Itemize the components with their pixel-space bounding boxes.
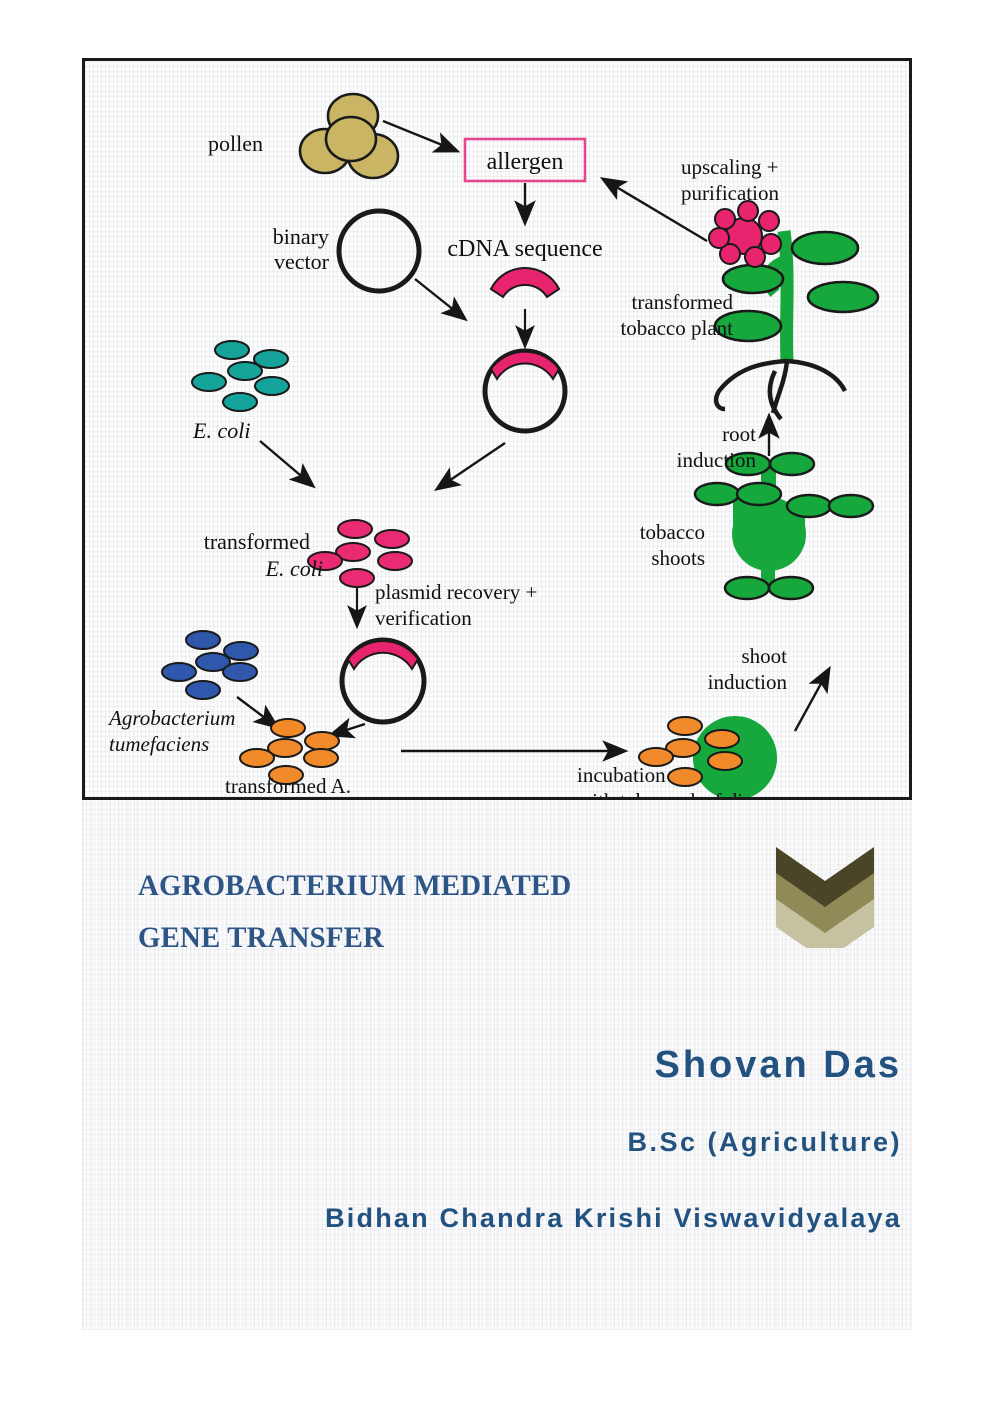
transformed-ecoli-label-line2: E. coli: [265, 556, 323, 581]
cdna-arc-icon: [491, 268, 559, 297]
gene-transfer-diagram-figure: pollen allergen cDNA sequence binary vec…: [82, 58, 912, 800]
root-induction-label-line1: root: [722, 422, 756, 446]
incubation-label-line1: incubation: [577, 763, 666, 787]
transformed-plant-label-line2: tobacco plant: [620, 316, 733, 340]
upscaling-label-line2: purification: [681, 181, 779, 205]
plasmid-recovery-label-line1: plasmid recovery +: [375, 580, 537, 604]
pollen-label: pollen: [208, 131, 263, 156]
transformed-tobacco-plant: [709, 201, 878, 419]
transformed-agro-label-line1: transformed A.: [225, 774, 351, 797]
ecoli-group: [192, 341, 289, 411]
agrobacterium-label-line1: Agrobacterium: [107, 706, 235, 730]
binary-vector-label-line1: binary: [273, 224, 329, 249]
allergen-label: allergen: [487, 149, 564, 175]
cdna-sequence-label: cDNA sequence: [447, 236, 602, 262]
arrow-ecoli-to-transformed-ecoli: [260, 441, 313, 486]
ecoli-label: E. coli: [192, 418, 250, 443]
transformed-ecoli-group: [308, 520, 412, 587]
arrow-agro-to-transformed-agro: [237, 697, 277, 727]
root-induction-label-line2: induction: [677, 448, 757, 472]
tobacco-shoots-group: [695, 453, 873, 599]
page-title-line-2: GENE TRANSFER: [138, 912, 714, 964]
page-title: AGROBACTERIUM MEDIATED GENE TRANSFER: [138, 860, 714, 964]
plasmid-recovery-label-line2: verification: [375, 606, 472, 630]
agrobacterium-group: [162, 631, 258, 699]
transformed-ecoli-label-line1: transformed: [204, 529, 310, 554]
author-degree: B.Sc (Agriculture): [90, 1116, 902, 1168]
pollen-group: [300, 94, 398, 178]
incubation-label-line2: with tobacco leaf discs: [577, 789, 769, 797]
author-name: Shovan Das: [90, 1038, 902, 1092]
page-title-line-1: AGROBACTERIUM MEDIATED: [138, 860, 714, 912]
author-block: Shovan Das B.Sc (Agriculture) Bidhan Cha…: [90, 1038, 902, 1244]
triple-chevron-decoration: [770, 843, 880, 948]
tobacco-shoots-label-line2: shoots: [651, 546, 705, 570]
shoot-induction-label-line2: induction: [708, 670, 788, 694]
author-organization: Bidhan Chandra Krishi Viswavidyalaya: [90, 1192, 902, 1244]
tobacco-shoots-label-line1: tobacco: [640, 520, 705, 544]
transformed-plant-label-line1: transformed: [632, 290, 734, 314]
binary-vector-label-line2: vector: [274, 249, 330, 274]
shoot-induction-label-line1: shoot: [741, 644, 787, 668]
upscaling-label-line1: upscaling +: [681, 155, 779, 179]
arrow-shoot-induction: [795, 669, 829, 731]
arrow-vector-to-recombinant: [415, 279, 465, 319]
agrobacterium-label-line2: tumefaciens: [109, 732, 209, 756]
binary-vector-plasmid: [339, 211, 419, 291]
recovered-plasmid: [342, 640, 424, 722]
recombinant-plasmid: [485, 351, 565, 431]
arrow-plasmid-to-transformed-agro: [331, 724, 365, 735]
arrow-plasmid-to-transformed-ecoli: [437, 443, 505, 489]
